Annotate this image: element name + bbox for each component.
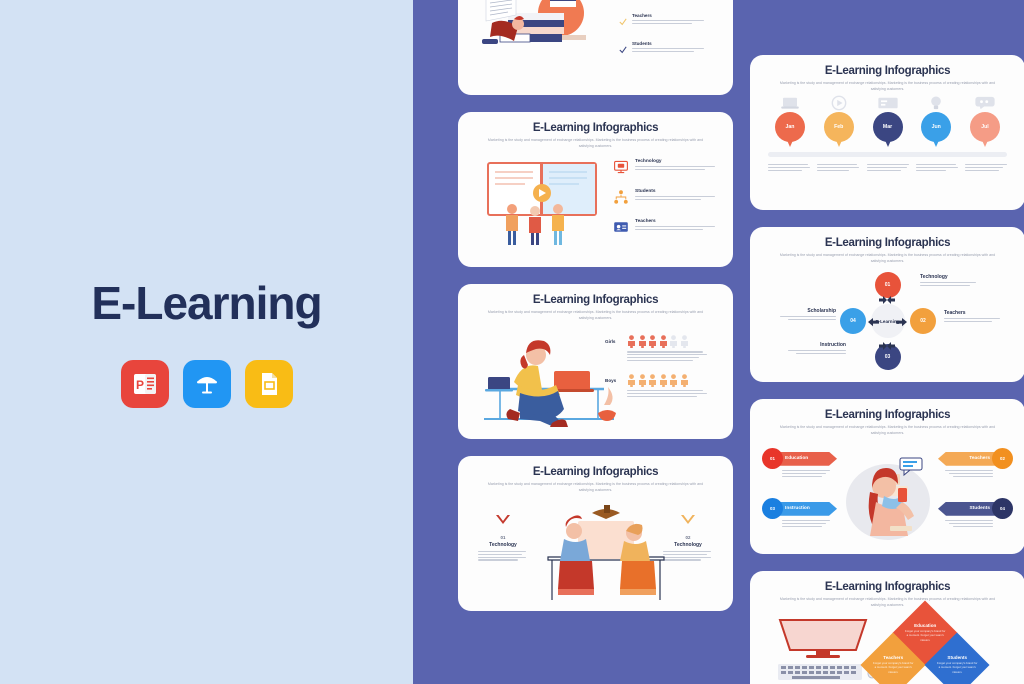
list-item[interactable]: Teachers xyxy=(613,219,717,240)
person-icon xyxy=(627,335,636,348)
woman-at-desk-illustration xyxy=(474,327,624,436)
bulb-icon xyxy=(914,94,958,111)
check-icon xyxy=(619,41,627,59)
hero-panel: E-Learning P xyxy=(0,0,413,684)
laptop-icon xyxy=(768,94,812,111)
card-subtitle: Marketing is the study and management of… xyxy=(776,80,999,92)
pin-marker: Jan xyxy=(775,112,805,148)
card-subtitle: Marketing is the study and management of… xyxy=(484,309,707,321)
card-subtitle: Marketing is the study and management of… xyxy=(484,137,707,149)
card-diamond-grid[interactable]: E-Learning Infographics Marketing is the… xyxy=(750,571,1024,684)
pin-item-jan[interactable]: Jan xyxy=(768,94,812,148)
list-item-label: Students xyxy=(632,41,704,46)
placeholder-lines xyxy=(635,196,715,200)
diamond-title: Teachers xyxy=(872,656,914,661)
banner-number: 03 xyxy=(762,498,783,519)
placeholder-lines xyxy=(768,164,810,171)
powerpoint-icon[interactable]: P xyxy=(121,360,169,408)
card-title: E-Learning Infographics xyxy=(470,466,721,478)
placeholder-lines xyxy=(632,20,704,24)
card-pictogram[interactable]: E-Learning Infographics Marketing is the… xyxy=(458,284,733,439)
pictogram-stats: Girls xyxy=(605,335,717,410)
diamond-title: Education xyxy=(904,624,946,629)
person-icon xyxy=(627,374,636,387)
pin-marker: Jun xyxy=(921,112,951,148)
placeholder-lines xyxy=(965,164,1007,171)
keynote-icon[interactable] xyxy=(183,360,231,408)
check-icon xyxy=(619,13,627,31)
banner-item-02[interactable]: 02 Teachers xyxy=(938,448,1013,469)
placeholder-lines xyxy=(627,390,717,397)
placeholder-lines xyxy=(627,351,717,361)
person-icon-group xyxy=(627,335,689,348)
banner-desc-03 xyxy=(782,518,834,527)
banner-title: Teachers xyxy=(938,452,1000,466)
card-chevrons[interactable]: E-Learning Infographics Marketing is the… xyxy=(458,456,733,611)
pin-item-feb[interactable]: Feb xyxy=(817,94,861,148)
banner-title: Students xyxy=(938,502,1000,516)
diamond-desc: Forget your company's brand for a moment… xyxy=(872,662,914,675)
placeholder-lines xyxy=(635,166,715,170)
pin-marker: Feb xyxy=(824,112,854,148)
person-icon xyxy=(648,374,657,387)
page-title: E-Learning xyxy=(91,276,321,330)
list-item-label: Teachers xyxy=(635,219,715,224)
timeline-bar xyxy=(768,152,1007,157)
banner-item-03[interactable]: 03 Instruction xyxy=(762,498,837,519)
pin-row: Jan Feb xyxy=(762,94,1013,148)
person-icon xyxy=(669,374,678,387)
chat-icon xyxy=(963,94,1007,111)
diamond-title: Students xyxy=(936,656,978,661)
list-item[interactable]: Students xyxy=(613,189,717,210)
chevron-title: Technology xyxy=(472,542,534,548)
chevron-number: 01 xyxy=(472,535,534,540)
banner-number: 02 xyxy=(992,448,1013,469)
placeholder-lines xyxy=(817,164,859,171)
pin-description-row xyxy=(762,162,1013,171)
pictogram-row[interactable]: Girls xyxy=(605,335,717,348)
placeholder-lines xyxy=(941,520,993,527)
card-hub-diagram[interactable]: E-Learning Infographics Marketing is the… xyxy=(750,227,1024,382)
students-board-illustration xyxy=(482,159,604,256)
list-item[interactable]: Education xyxy=(619,0,715,3)
google-slides-icon[interactable] xyxy=(245,360,293,408)
banner-title: Instruction xyxy=(775,502,837,516)
placeholder-lines xyxy=(867,164,909,171)
hub-connectors xyxy=(762,270,1013,374)
card-title: E-Learning Infographics xyxy=(762,409,1013,421)
banner-item-04[interactable]: 04 Students xyxy=(938,498,1013,519)
monitor-icon xyxy=(613,159,629,180)
placeholder-lines xyxy=(632,48,704,52)
banner-desc-04 xyxy=(941,518,993,527)
placeholder-lines xyxy=(782,520,834,527)
person-icon xyxy=(680,374,689,387)
list-item[interactable]: Students xyxy=(619,41,715,59)
diamond-desc: Forget your company's brand for a moment… xyxy=(936,662,978,675)
teachers-table-illustration xyxy=(530,501,680,610)
person-icon-group xyxy=(627,374,689,387)
pictogram-row[interactable]: Boys xyxy=(605,374,717,387)
slide-gallery: E-Learning Infographics Marketing is the… xyxy=(413,0,1024,684)
placeholder-lines xyxy=(478,551,528,561)
checklist: Education Teachers xyxy=(619,0,715,69)
desktop-illustration xyxy=(770,616,880,684)
person-icon xyxy=(659,374,668,387)
card-title: E-Learning Infographics xyxy=(762,581,1013,593)
row-label: Girls xyxy=(605,339,621,344)
pin-item-jun[interactable]: Jun xyxy=(914,94,958,148)
list-item-label: Students xyxy=(635,189,715,194)
pin-marker: Mar xyxy=(873,112,903,148)
check-icon xyxy=(619,0,627,3)
person-icon xyxy=(680,335,689,348)
id-card-icon xyxy=(613,219,629,240)
diamond-desc: Forget your company's brand for a moment… xyxy=(904,630,946,643)
card-features[interactable]: E-Learning Infographics Marketing is the… xyxy=(458,112,733,267)
books-illustration xyxy=(478,0,598,78)
person-icon xyxy=(648,335,657,348)
list-item-label: Teachers xyxy=(632,13,704,18)
row-label: Boys xyxy=(605,378,621,383)
placeholder-lines xyxy=(782,470,834,477)
card-pin-timeline[interactable]: E-Learning Infographics Marketing is the… xyxy=(750,55,1024,210)
list-item[interactable]: Teachers xyxy=(619,13,715,31)
banner-item-01[interactable]: 01 Education xyxy=(762,448,837,469)
svg-text:P: P xyxy=(136,378,144,392)
card-arrow-banners[interactable]: E-Learning Infographics Marketing is the… xyxy=(750,399,1024,554)
banner-number: 01 xyxy=(762,448,783,469)
card-checklist[interactable]: E-Learning Infographics Marketing is the… xyxy=(458,0,733,95)
card-subtitle: Marketing is the study and management of… xyxy=(484,481,707,493)
app-icon-row: P xyxy=(121,360,293,408)
org-chart-icon xyxy=(613,189,629,210)
card-subtitle: Marketing is the study and management of… xyxy=(776,252,999,264)
feature-list: Technology xyxy=(613,159,717,249)
pin-item-jul[interactable]: Jul xyxy=(963,94,1007,148)
person-icon xyxy=(669,335,678,348)
person-icon xyxy=(638,335,647,348)
woman-phone-illustration xyxy=(840,446,936,547)
list-item-label: Technology xyxy=(635,159,715,164)
slide-column-left: E-Learning Infographics Marketing is the… xyxy=(458,0,733,684)
card-title: E-Learning Infographics xyxy=(762,65,1013,77)
banner-desc-01 xyxy=(782,468,834,477)
person-icon xyxy=(638,374,647,387)
card-title: E-Learning Infographics xyxy=(762,237,1013,249)
banner-title: Education xyxy=(775,452,837,466)
card-title: E-Learning Infographics xyxy=(470,294,721,306)
placeholder-lines xyxy=(941,470,993,477)
placeholder-lines xyxy=(635,226,715,230)
chevron-down-icon xyxy=(495,513,511,530)
person-icon xyxy=(659,335,668,348)
placeholder-lines xyxy=(916,164,958,171)
presentation-icon xyxy=(866,94,910,111)
list-item[interactable]: Technology xyxy=(613,159,717,180)
slide-column-right: E-Learning Infographics Marketing is the… xyxy=(750,55,1024,684)
chevron-down-icon xyxy=(680,513,696,530)
banner-desc-02 xyxy=(941,468,993,477)
play-icon xyxy=(817,94,861,111)
card-subtitle: Marketing is the study and management of… xyxy=(776,596,999,608)
chevron-item-01[interactable]: 01 Technology xyxy=(472,513,534,560)
banner-number: 04 xyxy=(992,498,1013,519)
pin-marker: Jul xyxy=(970,112,1000,148)
card-title: E-Learning Infographics xyxy=(470,122,721,134)
pin-item-mar[interactable]: Mar xyxy=(866,94,910,148)
card-subtitle: Marketing is the study and management of… xyxy=(776,424,999,436)
